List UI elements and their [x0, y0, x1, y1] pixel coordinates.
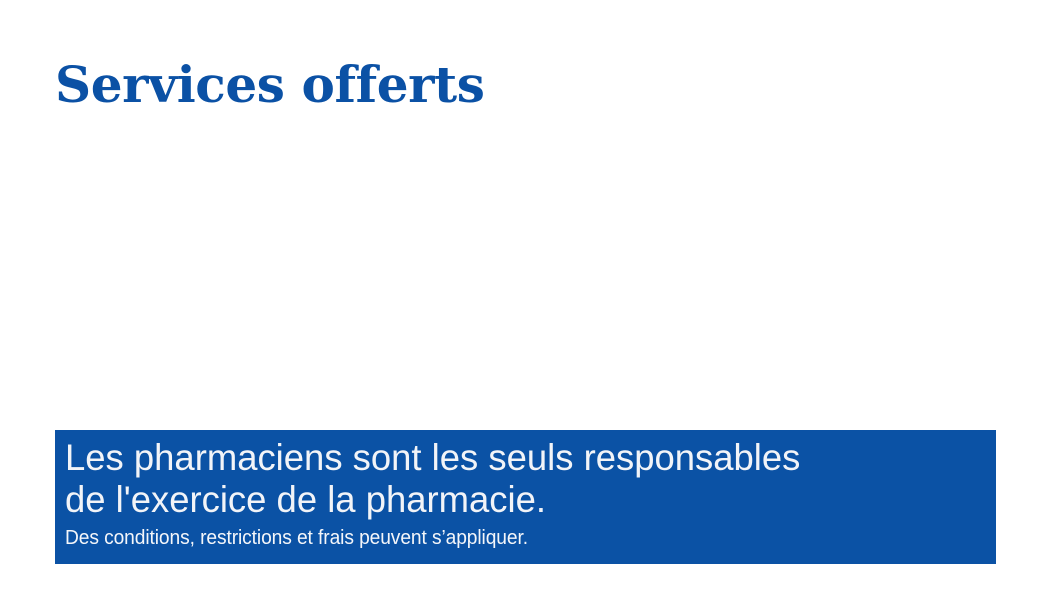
- banner-headline-line-1: Les pharmaciens sont les seuls responsab…: [65, 437, 972, 479]
- slide-content-area: [55, 140, 996, 420]
- banner-headline-line-2: de l'exercice de la pharmacie.: [65, 479, 972, 521]
- banner-subtext: Des conditions, restrictions et frais pe…: [65, 525, 949, 551]
- slide-canvas: Services offerts Les pharmaciens sont le…: [0, 0, 1050, 600]
- page-title: Services offerts: [55, 58, 485, 112]
- disclaimer-banner: Les pharmaciens sont les seuls responsab…: [55, 430, 996, 564]
